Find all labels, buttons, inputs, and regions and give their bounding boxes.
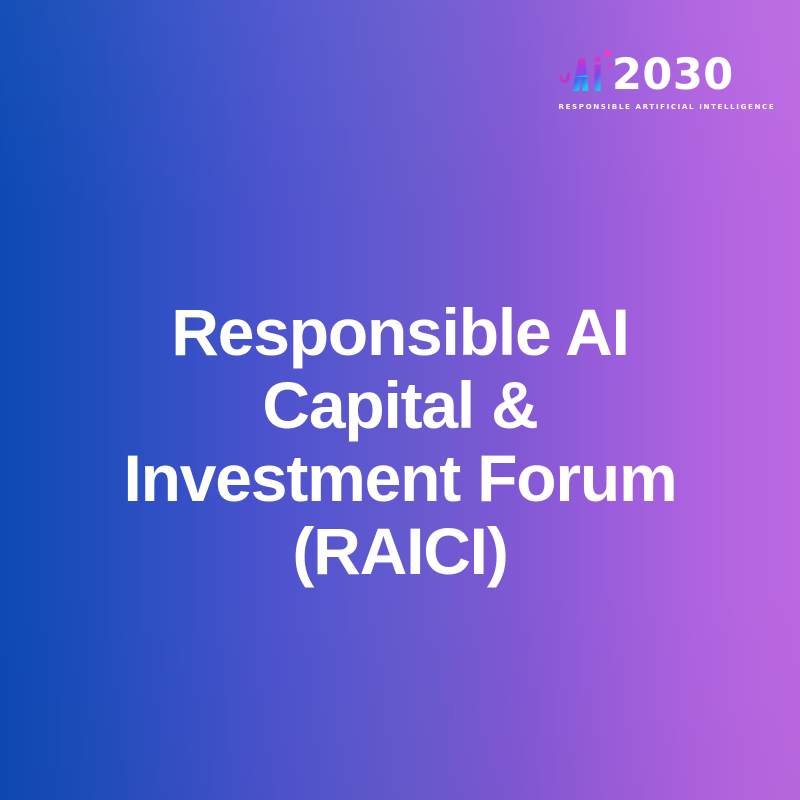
logo-wordmark-2030: 2030 xyxy=(612,54,734,97)
poster-headline: Responsible AI Capital & Investment Foru… xyxy=(0,296,800,588)
headline-line-4: (RAICI) xyxy=(28,515,772,588)
logo-tagline: RESPONSIBLE ARTIFICIAL INTELLIGENCE xyxy=(557,103,742,110)
headline-line-1: Responsible AI xyxy=(28,296,772,369)
ai-monogram-icon xyxy=(557,46,615,98)
headline-line-2: Capital & xyxy=(28,369,772,442)
poster-canvas: 2030 RESPONSIBLE ARTIFICIAL INTELLIGENCE… xyxy=(0,0,800,800)
logo-primary-row: 2030 xyxy=(557,47,742,99)
ai2030-logo[interactable]: 2030 RESPONSIBLE ARTIFICIAL INTELLIGENCE xyxy=(557,47,742,119)
headline-line-3: Investment Forum xyxy=(28,442,772,515)
